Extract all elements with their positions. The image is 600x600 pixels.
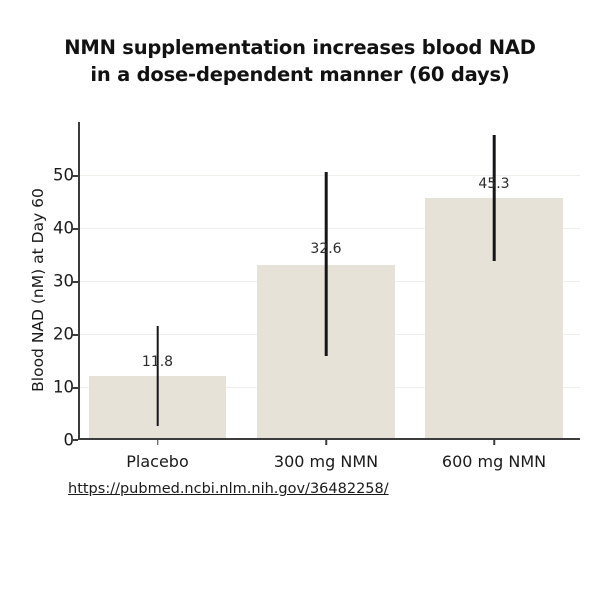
y-tick-mark	[72, 281, 78, 283]
y-tick-label: 50	[53, 166, 74, 185]
x-tick-label-300-mg-nmn: 300 mg NMN	[274, 452, 378, 471]
bar-value-label: 11.8	[142, 354, 173, 370]
chart-page: NMN supplementation increases blood NAD …	[0, 0, 600, 600]
chart-title: NMN supplementation increases blood NAD …	[0, 34, 600, 88]
error-bar-600-mg-nmn	[493, 135, 496, 261]
bar-value-label: 32.6	[310, 241, 341, 257]
plot-area: 11.8 32.6 45.3	[78, 122, 580, 440]
y-tick-label: 30	[53, 272, 74, 291]
error-bar-placebo	[156, 326, 159, 426]
x-tick-mark	[493, 440, 495, 445]
bar-value-label: 45.3	[478, 176, 509, 192]
source-url-link[interactable]: https://pubmed.ncbi.nlm.nih.gov/36482258…	[68, 481, 389, 497]
y-tick-mark	[72, 175, 78, 177]
y-tick-label: 10	[53, 378, 74, 397]
y-tick-mark	[72, 334, 78, 336]
error-bar-300-mg-nmn	[325, 172, 328, 356]
x-tick-mark	[325, 440, 327, 445]
y-tick-mark	[72, 387, 78, 389]
y-tick-label: 40	[53, 219, 74, 238]
x-tick-label-placebo: Placebo	[126, 452, 188, 471]
y-axis-tick-labels: 50 40 30 20 10 0	[34, 122, 74, 440]
x-axis-spine	[78, 438, 580, 440]
y-tick-label: 20	[53, 325, 74, 344]
x-tick-mark	[157, 440, 159, 445]
y-tick-mark	[72, 439, 78, 441]
x-tick-label-600-mg-nmn: 600 mg NMN	[442, 452, 546, 471]
y-tick-mark	[72, 228, 78, 230]
